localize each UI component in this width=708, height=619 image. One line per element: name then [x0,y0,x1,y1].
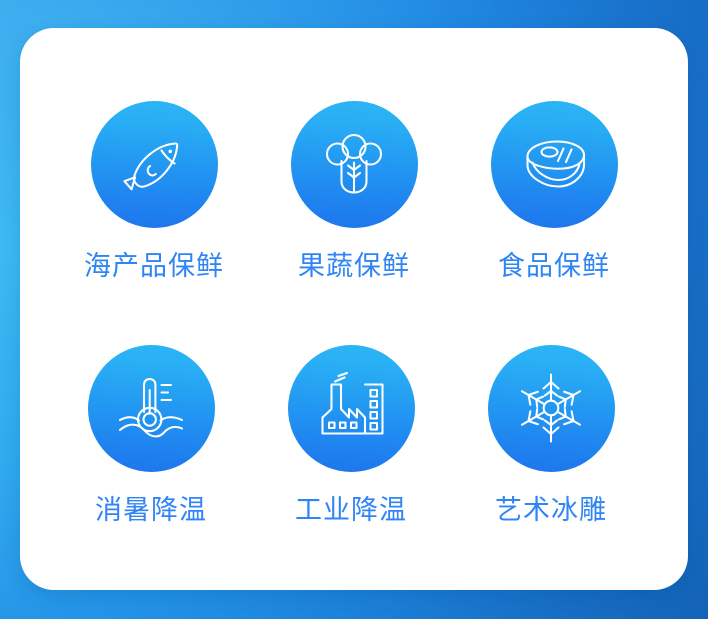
feature-icon-badge [491,101,618,228]
feature-icon-badge [288,345,415,472]
feature-item-industrial-cooling[interactable]: 工业降温 [251,345,451,524]
feature-item-summer-cooling[interactable]: 消暑降温 [51,345,251,524]
feature-label: 艺术冰雕 [495,497,607,524]
feature-item-ice-sculpture[interactable]: 艺术冰雕 [451,345,651,524]
page-background: 海产品保鲜 果蔬保鲜 [0,0,708,619]
fish-icon [114,124,194,204]
feature-grid: 海产品保鲜 果蔬保鲜 [20,28,688,590]
feature-item-produce-preservation[interactable]: 果蔬保鲜 [254,101,454,280]
feature-item-seafood-preservation[interactable]: 海产品保鲜 [54,101,254,280]
factory-icon [311,368,391,448]
feature-icon-badge [488,345,615,472]
feature-label: 消暑降温 [95,497,207,524]
feature-label: 工业降温 [295,497,407,524]
steak-icon [514,124,594,204]
snowflake-icon [511,368,591,448]
feature-item-food-preservation[interactable]: 食品保鲜 [454,101,654,280]
feature-icon-badge [91,101,218,228]
thermometer-water-icon [111,368,191,448]
feature-label: 海产品保鲜 [84,253,224,280]
feature-card: 海产品保鲜 果蔬保鲜 [20,28,688,590]
feature-icon-badge [88,345,215,472]
feature-icon-badge [291,101,418,228]
broccoli-icon [314,124,394,204]
feature-label: 果蔬保鲜 [298,253,410,280]
feature-label: 食品保鲜 [498,253,610,280]
